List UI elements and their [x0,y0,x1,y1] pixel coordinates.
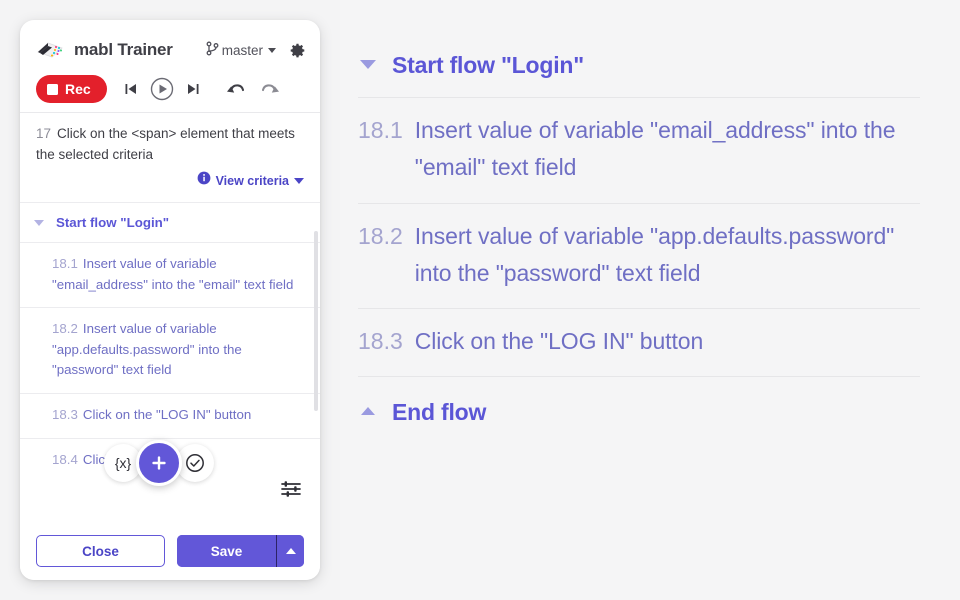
main-step-text: Insert value of variable "app.defaults.p… [415,218,920,293]
chevron-up-icon [286,548,296,554]
add-step-button[interactable] [136,440,182,486]
mabl-logo-icon [34,36,66,64]
substep-number: 18.3 [52,407,78,422]
close-button[interactable]: Close [36,535,165,567]
gear-icon[interactable] [289,42,306,59]
panel-header: mabl Trainer master [20,20,320,112]
main-step-text: Insert value of variable "email_address"… [415,112,920,187]
scrollbar-thumb[interactable] [314,231,318,411]
save-options-button[interactable] [276,535,304,567]
main-step-text: Click on the "LOG IN" button [415,323,703,360]
main-flow-start-row[interactable]: Start flow "Login" [358,44,920,97]
action-button-zone: {x} [20,466,320,522]
list-item-flow-start[interactable]: Start flow "Login" [20,203,320,243]
save-button-group: Save [177,535,304,567]
save-button[interactable]: Save [177,535,276,567]
check-circle-icon [185,453,205,473]
chevron-down-icon [294,178,304,184]
list-item[interactable]: 18.2Insert value of variable "app.defaul… [20,308,320,394]
substep-number: 18.1 [52,256,78,271]
list-item[interactable]: 17Click on the <span> element that meets… [20,113,320,203]
flow-start-label: Start flow "Login" [56,215,169,230]
undo-arrow-icon[interactable] [225,80,245,98]
chevron-down-icon [268,48,276,53]
action-button-group: {x} [104,440,214,486]
substep-row-text: 18.2Insert value of variable "app.defaul… [36,319,304,381]
step-number: 17 [36,126,51,141]
play-circle-icon[interactable] [149,76,175,102]
stop-square-icon [47,84,58,95]
main-step-number: 18.3 [358,323,403,360]
main-flow-end-label: End flow [392,399,486,426]
main-step-row[interactable]: 18.3 Click on the "LOG IN" button [358,308,920,376]
record-button[interactable]: Rec [36,75,107,103]
step-text: Click on the <span> element that meets t… [36,126,295,162]
branch-selector[interactable]: master [206,41,276,59]
redo-arrow-icon[interactable] [261,80,281,98]
step-list[interactable]: 17Click on the <span> element that meets… [20,112,320,466]
scrollbar[interactable] [314,113,319,466]
main-step-row[interactable]: 18.2 Insert value of variable "app.defau… [358,203,920,309]
plus-icon [149,453,169,473]
git-branch-icon [206,41,219,59]
main-step-number: 18.1 [358,112,403,149]
panel-footer: Close Save [20,522,320,580]
list-item[interactable]: 18.3Click on the "LOG IN" button [20,394,320,439]
substep-number: 18.4 [52,452,78,466]
record-button-label: Rec [65,81,91,97]
chevron-down-icon[interactable] [34,220,44,226]
substep-text: Click on the "LOG IN" button [83,407,251,422]
main-step-detail-pane: Start flow "Login" 18.1 Insert value of … [340,0,960,600]
step-forward-icon[interactable] [185,81,201,97]
substep-number: 18.2 [52,321,78,336]
recorder-toolbar: Rec [34,66,306,112]
main-flow-start-label: Start flow "Login" [392,52,584,79]
variable-braces-icon: {x} [115,455,131,471]
substep-text: Insert value of variable "app.defaults.p… [52,321,242,377]
view-criteria-label: View criteria [216,174,289,188]
substep-text: Insert value of variable "email_address"… [52,256,293,292]
branch-name: master [222,43,263,58]
list-item[interactable]: 18.1Insert value of variable "email_addr… [20,243,320,308]
info-circle-icon [197,171,211,190]
main-step-row[interactable]: 18.1 Insert value of variable "email_add… [358,97,920,203]
step-row-text: 17Click on the <span> element that meets… [36,124,304,165]
app-title: mabl Trainer [74,40,173,60]
chevron-down-icon[interactable] [358,52,378,69]
trainer-panel: mabl Trainer master [20,20,320,580]
chevron-up-icon[interactable] [358,399,378,415]
main-flow-end-row[interactable]: End flow [358,376,920,444]
skip-to-start-icon[interactable] [123,81,139,97]
main-step-number: 18.2 [358,218,403,255]
view-criteria-button[interactable]: View criteria [36,171,304,190]
substep-row-text: 18.1Insert value of variable "email_addr… [36,254,304,295]
substep-row-text: 18.3Click on the "LOG IN" button [36,405,304,426]
brand-row: mabl Trainer master [34,34,306,66]
sliders-icon[interactable] [280,478,302,505]
